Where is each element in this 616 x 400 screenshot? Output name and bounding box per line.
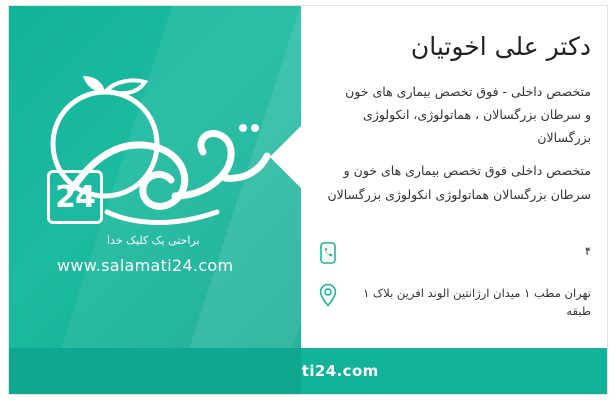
brand-tagline: براحتی یک کلیک خدا [107, 234, 200, 247]
brand-logo: 24 براحتی یک کلیک خدا www.salamati24.com [27, 66, 279, 276]
phone-icon [315, 238, 341, 268]
contact-section: ۴ تهران مطب ۱ میدان ارژانتین الوند افرین… [301, 238, 608, 333]
logo-panel: 24 براحتی یک کلیک خدا www.salamati24.com [9, 6, 301, 350]
specialty-line-1: متخصص داخلی - فوق تخصص بیماری های خون [315, 80, 591, 103]
brand-website: www.salamati24.com [57, 256, 233, 275]
page-title: دکتر علی اخوتیان [315, 32, 591, 62]
footer-bar: salamati24.com [9, 348, 608, 394]
business-card: 24 براحتی یک کلیک خدا www.salamati24.com… [8, 5, 608, 395]
footer-left-block [9, 348, 301, 394]
specialty-block-2: متخصص داخلی فوق تخصص بیماری های خون و سر… [315, 159, 591, 205]
specialty-line-2: و سرطان بزرگسالان ، هماتولوژی، انکولوژی … [315, 103, 591, 149]
brand-badge-24: 24 [47, 170, 103, 224]
address-value: تهران مطب ۱ میدان ارژانتین الوند افرین ب… [351, 280, 591, 321]
contact-row-address[interactable]: تهران مطب ۱ میدان ارژانتین الوند افرین ب… [315, 280, 591, 321]
phone-value: ۴ [351, 238, 591, 260]
location-pin-icon [315, 280, 341, 310]
contact-row-phone[interactable]: ۴ [315, 238, 591, 268]
details-panel: دکتر علی اخوتیان متخصص داخلی - فوق تخصص … [301, 6, 608, 350]
